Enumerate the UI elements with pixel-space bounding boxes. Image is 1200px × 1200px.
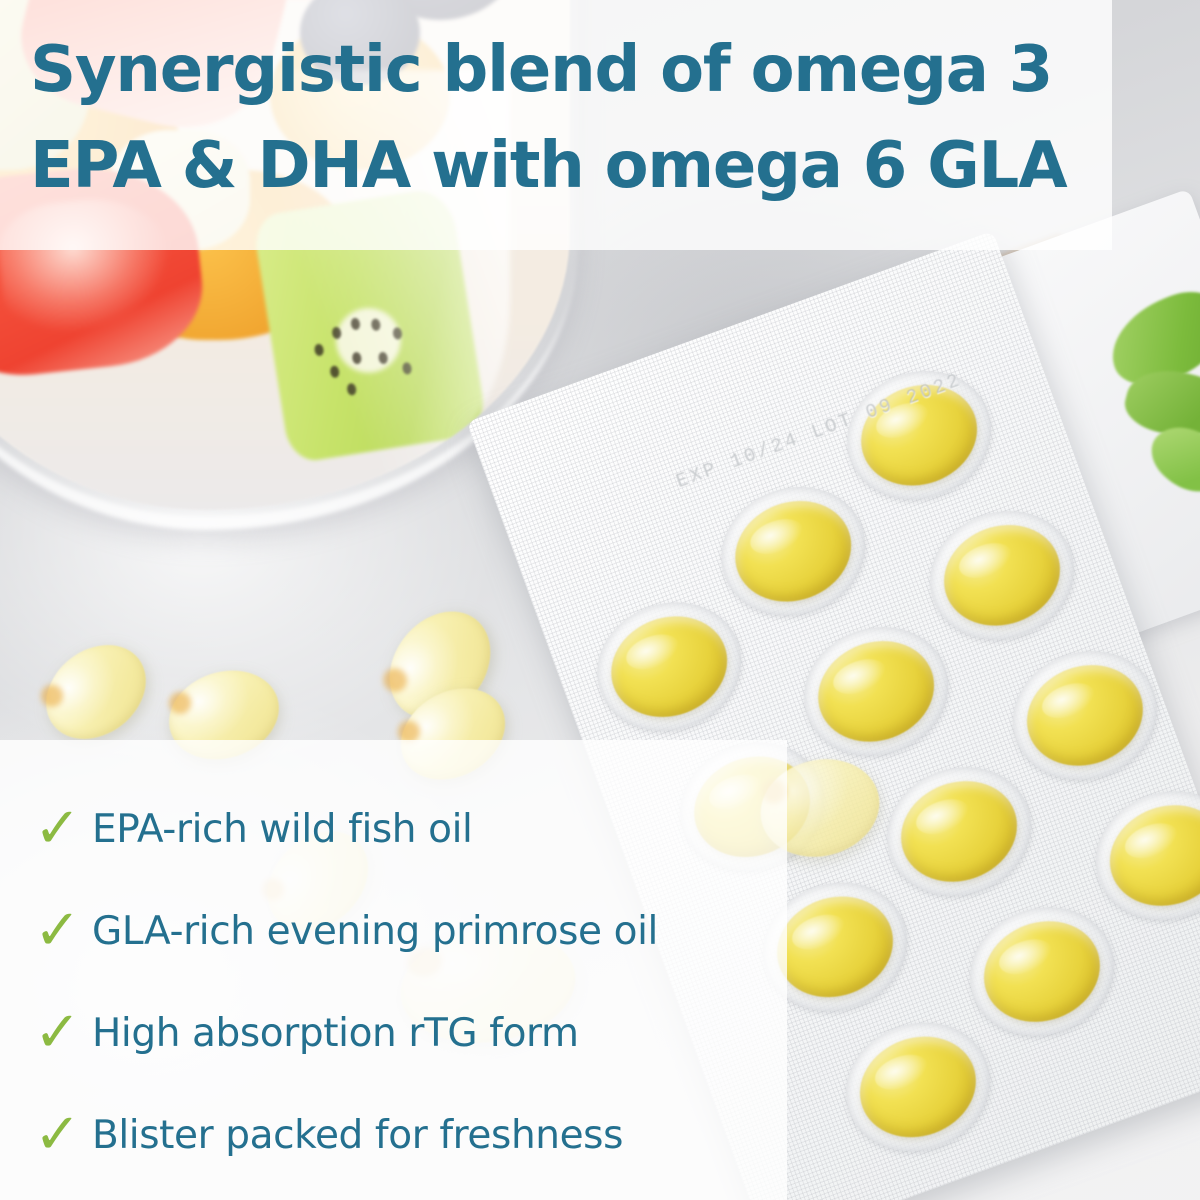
headline-block: Synergistic blend of omega 3 EPA & DHA w… bbox=[30, 22, 1090, 214]
list-item: ✓ Blister packed for freshness bbox=[34, 1102, 787, 1168]
headline-line-1: Synergistic blend of omega 3 bbox=[30, 22, 1090, 118]
check-icon: ✓ bbox=[34, 801, 92, 857]
list-item: ✓ EPA-rich wild fish oil bbox=[34, 796, 787, 862]
feature-label: EPA-rich wild fish oil bbox=[92, 807, 472, 852]
feature-list: ✓ EPA-rich wild fish oil ✓ GLA-rich even… bbox=[0, 740, 787, 1200]
check-icon: ✓ bbox=[34, 1107, 92, 1163]
feature-label: Blister packed for freshness bbox=[92, 1113, 623, 1158]
feature-label: GLA-rich evening primrose oil bbox=[92, 909, 658, 954]
headline-line-2: EPA & DHA with omega 6 GLA bbox=[30, 118, 1090, 214]
check-icon: ✓ bbox=[34, 903, 92, 959]
list-item: ✓ High absorption rTG form bbox=[34, 1000, 787, 1066]
feature-label: High absorption rTG form bbox=[92, 1011, 579, 1056]
check-icon: ✓ bbox=[34, 1005, 92, 1061]
product-feature-card: EXP 10/24 LOT 09 2022 Synergistic blend … bbox=[0, 0, 1200, 1200]
list-item: ✓ GLA-rich evening primrose oil bbox=[34, 898, 787, 964]
